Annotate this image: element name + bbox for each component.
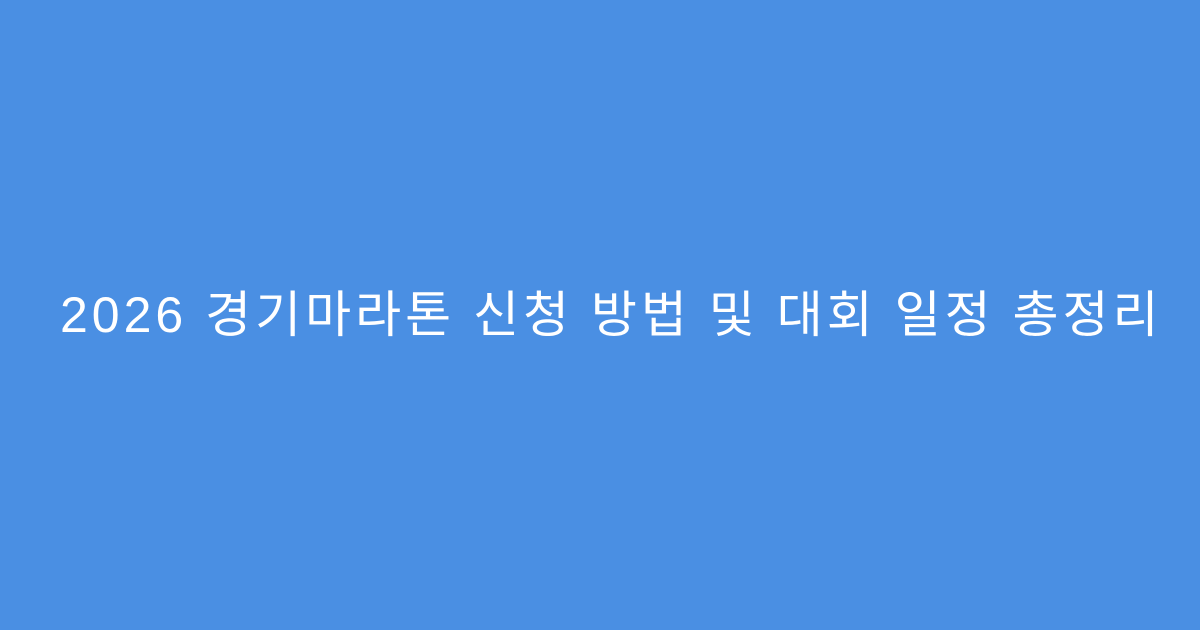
page-title: 2026 경기마라톤 신청 방법 및 대회 일정 총정리 xyxy=(60,287,1140,343)
og-share-card: 2026 경기마라톤 신청 방법 및 대회 일정 총정리 xyxy=(0,0,1200,630)
